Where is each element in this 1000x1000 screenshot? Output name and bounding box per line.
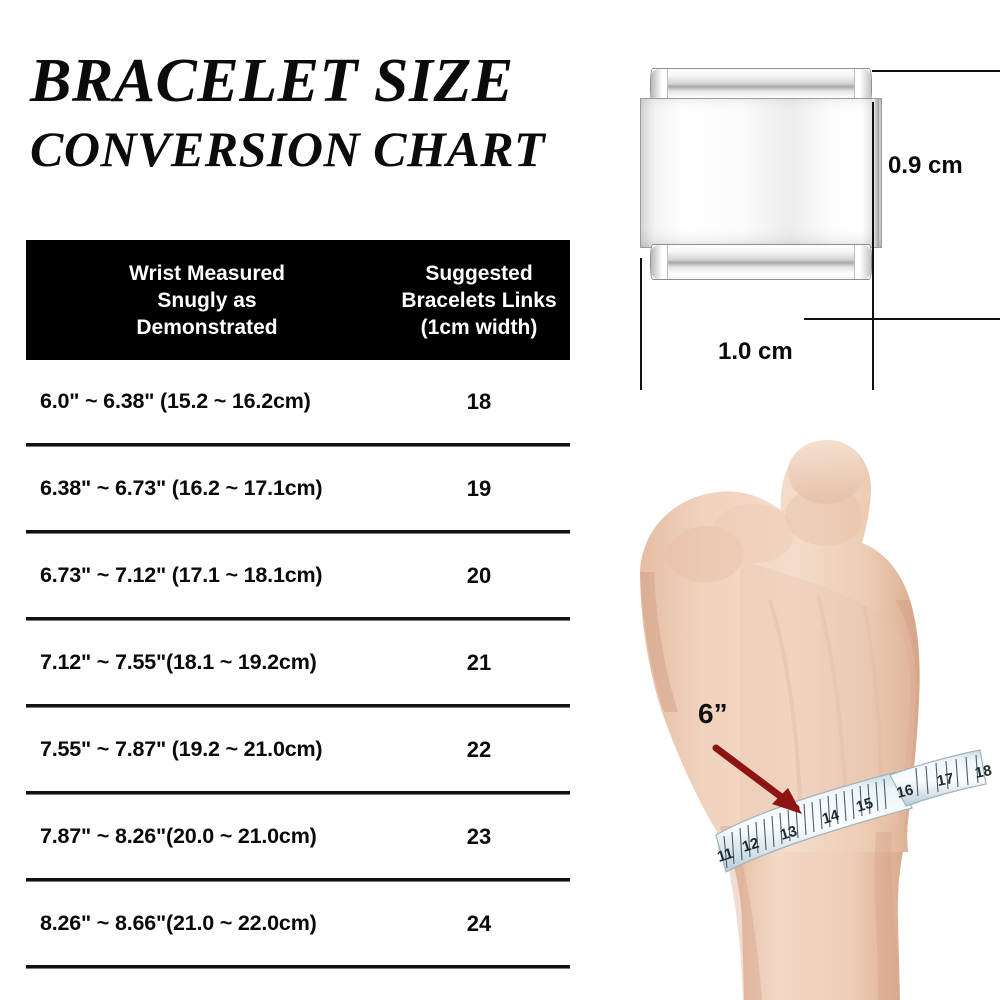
table-row: 6.0" ~ 6.38" (15.2 ~ 16.2cm) 18 — [26, 360, 570, 443]
height-dimension-bottom-leader — [804, 318, 1000, 320]
bracelet-link-image — [640, 68, 872, 280]
table-header-suggested-links: Suggested Bracelets Links (1cm width) — [388, 260, 570, 341]
table-row: 7.12" ~ 7.55"(18.1 ~ 19.2cm) 21 — [26, 621, 570, 704]
table-header-links-line-3: (1cm width) — [388, 314, 570, 341]
six-inch-label: 6” — [698, 698, 728, 730]
page-title: BRACELET SIZE CONVERSION CHART — [30, 48, 590, 178]
table-header-links-line-1: Suggested — [388, 260, 570, 287]
table-cell-wrist-range: 8.26" ~ 8.66"(21.0 ~ 22.0cm) — [26, 911, 388, 936]
size-conversion-table: Wrist Measured Snugly as Demonstrated Su… — [26, 240, 570, 969]
table-cell-links-count: 24 — [388, 911, 570, 937]
table-row: 7.87" ~ 8.26"(20.0 ~ 21.0cm) 23 — [26, 795, 570, 878]
table-cell-wrist-range: 6.73" ~ 7.12" (17.1 ~ 18.1cm) — [26, 563, 388, 588]
table-cell-wrist-range: 6.0" ~ 6.38" (15.2 ~ 16.2cm) — [26, 389, 388, 414]
link-face-plate — [640, 98, 882, 248]
table-cell-links-count: 20 — [388, 563, 570, 589]
wrist-measurement-photo: 11 12 13 14 15 16 17 18 6” — [620, 400, 1000, 1000]
table-row: 6.73" ~ 7.12" (17.1 ~ 18.1cm) 20 — [26, 534, 570, 617]
table-header-wrist-line-3: Demonstrated — [26, 314, 388, 341]
table-header-wrist-line-2: Snugly as — [26, 287, 388, 314]
table-cell-wrist-range: 7.87" ~ 8.26"(20.0 ~ 21.0cm) — [26, 824, 388, 849]
table-header-wrist-line-1: Wrist Measured — [26, 260, 388, 287]
table-cell-wrist-range: 7.55" ~ 7.87" (19.2 ~ 21.0cm) — [26, 737, 388, 762]
table-row: 6.38" ~ 6.73" (16.2 ~ 17.1cm) 19 — [26, 447, 570, 530]
bracelet-size-chart-page: BRACELET SIZE CONVERSION CHART Wrist Mea… — [0, 0, 1000, 1000]
table-cell-wrist-range: 6.38" ~ 6.73" (16.2 ~ 17.1cm) — [26, 476, 388, 501]
table-row: 7.55" ~ 7.87" (19.2 ~ 21.0cm) 22 — [26, 708, 570, 791]
table-header-row: Wrist Measured Snugly as Demonstrated Su… — [26, 240, 570, 360]
link-bottom-rail-icon — [650, 244, 872, 280]
table-bottom-divider — [26, 965, 570, 969]
tape-number: 18 — [974, 762, 994, 782]
hand-illustration: 11 12 13 14 15 16 17 18 — [620, 400, 1000, 1000]
table-cell-links-count: 18 — [388, 389, 570, 415]
table-cell-links-count: 23 — [388, 824, 570, 850]
page-title-line-1: BRACELET SIZE — [30, 48, 590, 114]
tape-number: 17 — [936, 770, 956, 790]
table-cell-links-count: 19 — [388, 476, 570, 502]
table-cell-links-count: 22 — [388, 737, 570, 763]
height-dimension-top-leader — [872, 70, 1000, 72]
link-width-label: 1.0 cm — [718, 338, 793, 366]
width-dimension-left-leader — [640, 258, 642, 390]
table-body: 6.0" ~ 6.38" (15.2 ~ 16.2cm) 18 6.38" ~ … — [26, 360, 570, 969]
bracelet-link-diagram: 0.9 cm 1.0 cm — [600, 40, 1000, 390]
link-height-label: 0.9 cm — [888, 152, 963, 180]
table-cell-links-count: 21 — [388, 650, 570, 676]
table-header-links-line-2: Bracelets Links — [388, 287, 570, 314]
table-cell-wrist-range: 7.12" ~ 7.55"(18.1 ~ 19.2cm) — [26, 650, 388, 675]
page-title-line-2: CONVERSION CHART — [30, 120, 590, 178]
table-header-wrist-measured: Wrist Measured Snugly as Demonstrated — [26, 260, 388, 341]
width-dimension-right-leader — [872, 102, 874, 390]
table-row: 8.26" ~ 8.66"(21.0 ~ 22.0cm) 24 — [26, 882, 570, 965]
